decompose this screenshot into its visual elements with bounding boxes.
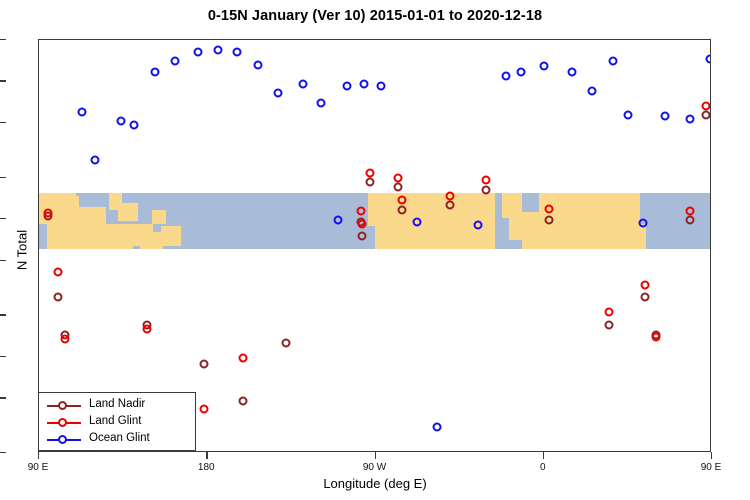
data-point-ocean-glint xyxy=(433,422,442,431)
data-point-land-glint xyxy=(143,324,152,333)
data-point-ocean-glint xyxy=(623,111,632,120)
data-point-land-nadir xyxy=(702,111,711,120)
landmass xyxy=(52,193,59,204)
data-point-land-nadir xyxy=(545,215,554,224)
data-point-ocean-glint xyxy=(517,67,526,76)
legend-label: Land Glint xyxy=(89,415,141,427)
legend-marker-icon xyxy=(58,401,67,410)
data-point-land-glint xyxy=(393,173,402,182)
data-point-land-nadir xyxy=(397,206,406,215)
landmass xyxy=(161,226,181,246)
data-point-land-nadir xyxy=(358,231,367,240)
landmass xyxy=(606,224,646,249)
legend-item: Ocean Glint xyxy=(39,431,195,448)
landmass xyxy=(59,196,79,216)
landmass xyxy=(140,232,163,249)
data-point-land-glint xyxy=(365,169,374,178)
data-point-ocean-glint xyxy=(150,67,159,76)
data-point-ocean-glint xyxy=(274,89,283,98)
data-point-ocean-glint xyxy=(539,61,548,70)
y-axis-label: N Total xyxy=(15,230,30,270)
world-map-band xyxy=(39,193,710,249)
data-point-ocean-glint xyxy=(706,55,711,64)
data-point-land-nadir xyxy=(238,396,247,405)
legend-label: Ocean Glint xyxy=(89,432,150,444)
data-point-ocean-glint xyxy=(130,121,139,130)
legend: Land NadirLand GlintOcean Glint xyxy=(38,392,196,451)
data-point-land-glint xyxy=(358,220,367,229)
data-point-ocean-glint xyxy=(638,218,647,227)
data-point-land-nadir xyxy=(605,321,614,330)
data-point-ocean-glint xyxy=(377,82,386,91)
data-point-land-glint xyxy=(199,404,208,413)
data-point-land-glint xyxy=(605,308,614,317)
data-point-land-glint xyxy=(53,268,62,277)
data-point-land-glint xyxy=(685,206,694,215)
data-point-land-nadir xyxy=(446,201,455,210)
plot-area xyxy=(38,39,711,452)
data-point-ocean-glint xyxy=(91,155,100,164)
data-point-land-glint xyxy=(481,175,490,184)
data-point-ocean-glint xyxy=(117,116,126,125)
data-point-ocean-glint xyxy=(412,218,421,227)
data-point-land-nadir xyxy=(640,293,649,302)
legend-item: Land Nadir xyxy=(39,397,195,414)
data-point-land-glint xyxy=(238,353,247,362)
chart-title: 0-15N January (Ver 10) 2015-01-01 to 202… xyxy=(0,8,750,24)
data-point-land-nadir xyxy=(199,360,208,369)
data-point-ocean-glint xyxy=(360,79,369,88)
chart-root: 0-15N January (Ver 10) 2015-01-01 to 202… xyxy=(0,0,750,500)
data-point-land-glint xyxy=(702,102,711,111)
data-point-land-nadir xyxy=(685,216,694,225)
data-point-land-glint xyxy=(446,191,455,200)
data-point-land-nadir xyxy=(365,178,374,187)
data-point-ocean-glint xyxy=(608,57,617,66)
data-point-ocean-glint xyxy=(334,215,343,224)
data-point-land-glint xyxy=(397,195,406,204)
data-point-land-glint xyxy=(356,206,365,215)
data-point-land-glint xyxy=(651,332,660,341)
data-point-ocean-glint xyxy=(193,47,202,56)
data-point-ocean-glint xyxy=(171,57,180,66)
data-point-ocean-glint xyxy=(685,115,694,124)
data-point-ocean-glint xyxy=(214,46,223,55)
data-point-ocean-glint xyxy=(317,98,326,107)
data-point-ocean-glint xyxy=(233,48,242,57)
data-point-ocean-glint xyxy=(343,81,352,90)
legend-marker-icon xyxy=(58,435,67,444)
legend-label: Land Nadir xyxy=(89,398,145,410)
data-point-ocean-glint xyxy=(502,71,511,80)
data-point-ocean-glint xyxy=(474,220,483,229)
landmass xyxy=(152,210,167,224)
legend-item: Land Glint xyxy=(39,414,195,431)
landmass xyxy=(118,203,138,221)
data-point-ocean-glint xyxy=(588,87,597,96)
data-point-ocean-glint xyxy=(298,79,307,88)
data-point-land-glint xyxy=(640,281,649,290)
data-point-land-glint xyxy=(61,334,70,343)
data-point-land-nadir xyxy=(481,185,490,194)
landmass xyxy=(401,210,495,249)
data-point-ocean-glint xyxy=(253,60,262,69)
data-point-land-nadir xyxy=(281,339,290,348)
data-point-ocean-glint xyxy=(77,107,86,116)
data-point-land-nadir xyxy=(53,293,62,302)
data-point-land-nadir xyxy=(393,183,402,192)
legend-marker-icon xyxy=(58,418,67,427)
data-point-land-glint xyxy=(545,205,554,214)
data-point-ocean-glint xyxy=(661,112,670,121)
data-point-land-glint xyxy=(44,209,53,218)
data-point-ocean-glint xyxy=(567,67,576,76)
x-axis-label: Longitude (deg E) xyxy=(0,476,750,491)
